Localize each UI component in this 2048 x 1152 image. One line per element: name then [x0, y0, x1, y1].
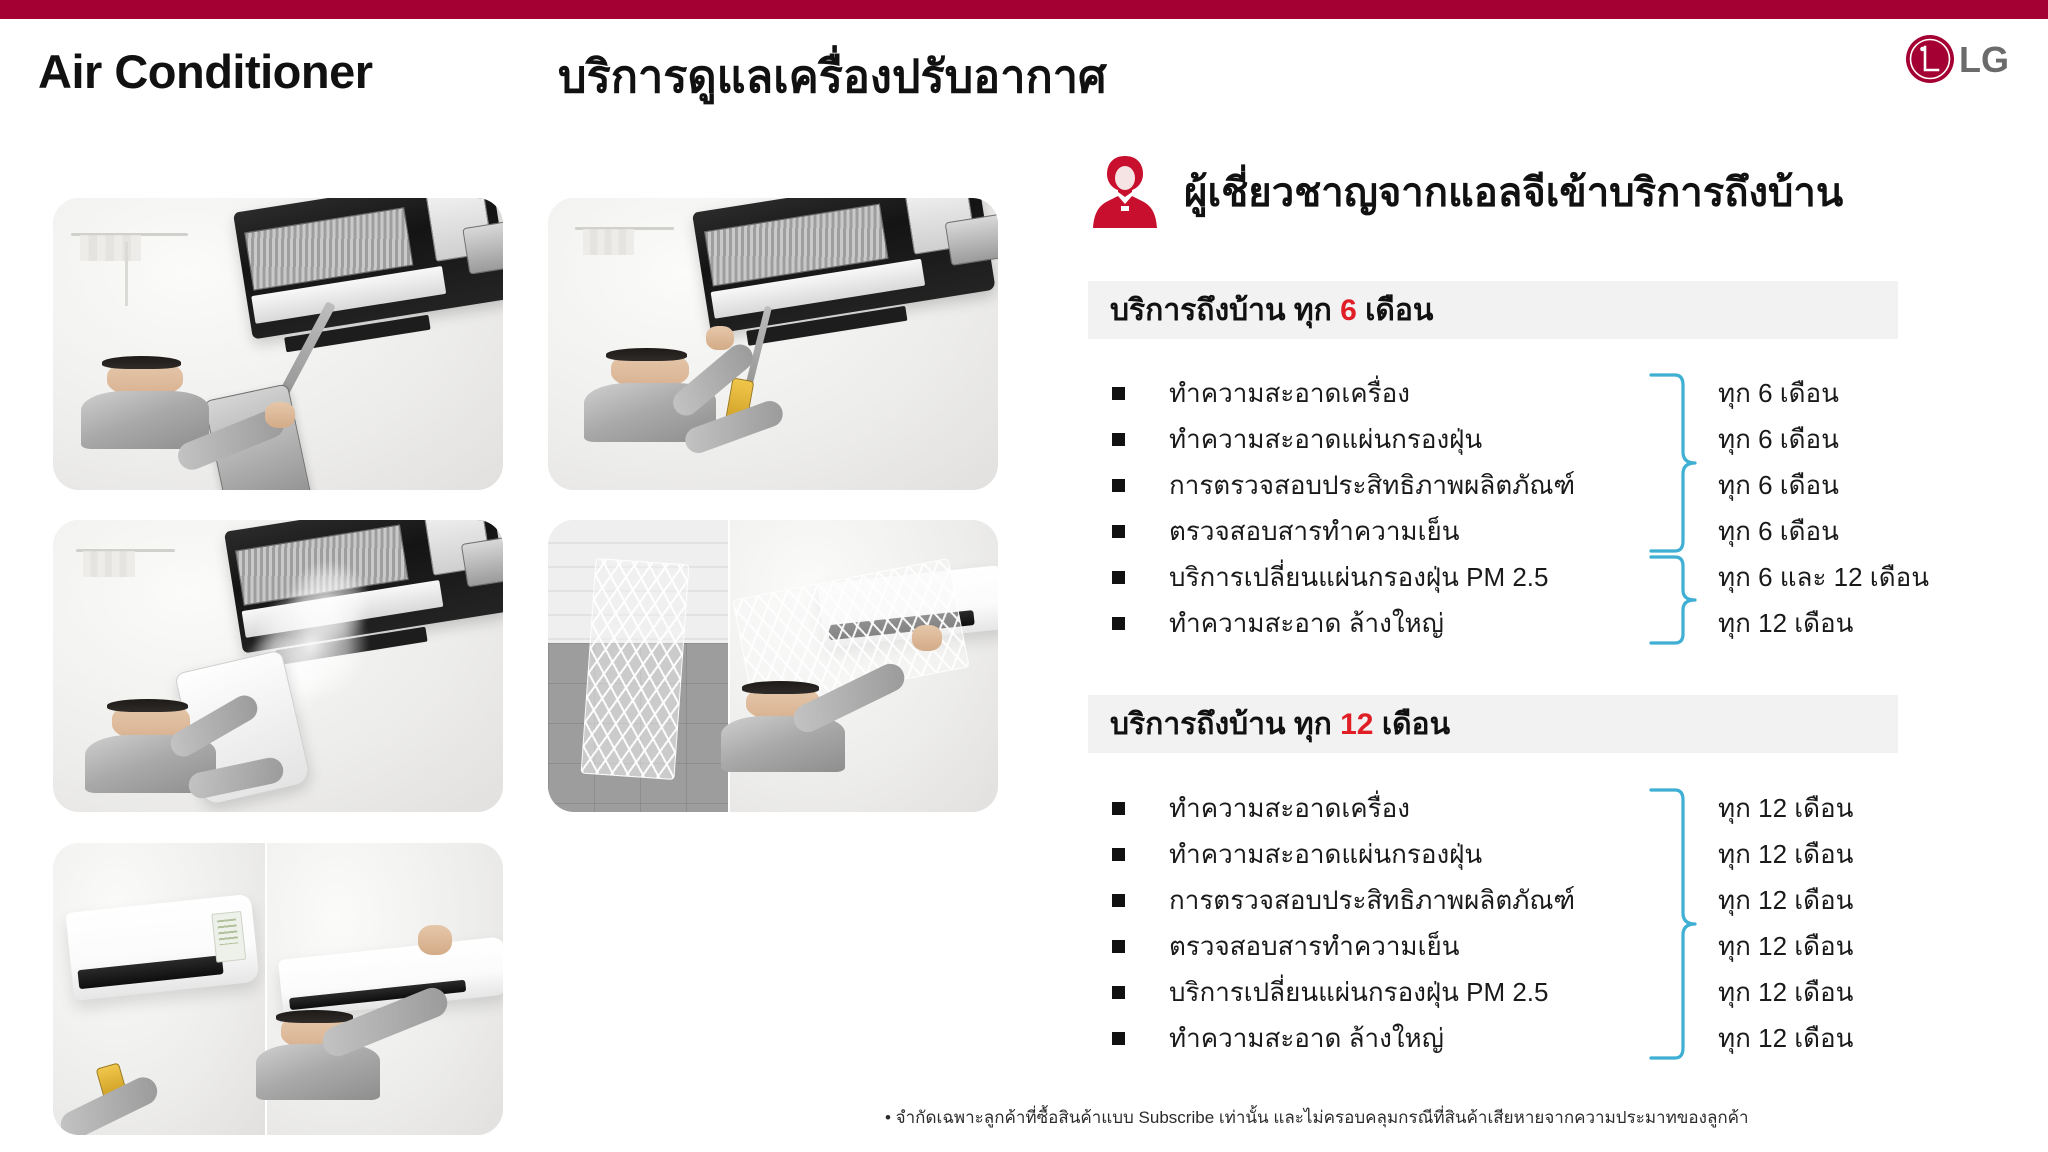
- bullet-icon: [1112, 479, 1125, 492]
- frequency-list-6-month: ทุก 6 เดือน ทุก 6 เดือน ทุก 6 เดือน ทุก …: [1718, 370, 1929, 646]
- list-item: การตรวจสอบประสิทธิภาพผลิตภัณฑ์: [1112, 877, 1575, 923]
- bullet-icon: [1112, 571, 1125, 584]
- bullet-icon: [1112, 802, 1125, 815]
- frequency-value: ทุก 12 เดือน: [1718, 877, 1853, 923]
- list-item: บริการเปลี่ยนแผ่นกรองฝุ่น PM 2.5: [1112, 969, 1575, 1015]
- bullet-icon: [1112, 617, 1125, 630]
- bullet-icon: [1112, 1032, 1125, 1045]
- bullet-icon: [1112, 894, 1125, 907]
- photo-spray-cleaning-coil: [548, 198, 998, 490]
- frequency-value: ทุก 6 เดือน: [1718, 416, 1929, 462]
- list-item: ตรวจสอบสารทำความเย็น: [1112, 508, 1575, 554]
- brace-6-month-group-2: [1645, 554, 1701, 646]
- list-item: ทำความสะอาด ล้างใหญ่: [1112, 600, 1575, 646]
- bullet-icon: [1112, 848, 1125, 861]
- frequency-value: ทุก 12 เดือน: [1718, 969, 1853, 1015]
- list-item: บริการเปลี่ยนแผ่นกรองฝุ่น PM 2.5: [1112, 554, 1575, 600]
- service-list-6-month: ทำความสะอาดเครื่อง ทำความสะอาดแผ่นกรองฝุ…: [1112, 370, 1575, 646]
- bullet-icon: [1112, 433, 1125, 446]
- top-accent-bar: [0, 0, 2048, 19]
- frequency-value: ทุก 6 เดือน: [1718, 462, 1929, 508]
- frequency-list-12-month: ทุก 12 เดือน ทุก 12 เดือน ทุก 12 เดือน ท…: [1718, 785, 1853, 1061]
- frequency-value: ทุก 6 เดือน: [1718, 508, 1929, 554]
- frequency-value: ทุก 6 และ 12 เดือน: [1718, 554, 1929, 600]
- list-item: ทำความสะอาดเครื่อง: [1112, 370, 1575, 416]
- frequency-value: ทุก 12 เดือน: [1718, 831, 1853, 877]
- page-title-thai: บริการดูแลเครื่องปรับอากาศ: [558, 40, 1107, 112]
- photo-steam-cleaning-with-panel: [53, 520, 503, 812]
- service-header: ผู้เชี่ยวชาญจากแอลจีเข้าบริการถึงบ้าน: [1088, 152, 1843, 232]
- bullet-icon: [1112, 986, 1125, 999]
- bullet-icon: [1112, 940, 1125, 953]
- section-band-12-month: บริการถึงบ้าน ทุก 12 เดือน: [1088, 695, 1898, 753]
- section-band-6-month-text: บริการถึงบ้าน ทุก 6 เดือน: [1088, 287, 1433, 334]
- slide-root: Air Conditioner บริการดูแลเครื่องปรับอาก…: [0, 0, 2048, 1152]
- list-item: ทำความสะอาดแผ่นกรองฝุ่น: [1112, 831, 1575, 877]
- section-band-12-month-text: บริการถึงบ้าน ทุก 12 เดือน: [1088, 701, 1450, 748]
- bullet-icon: [1112, 387, 1125, 400]
- list-item: ทำความสะอาดเครื่อง: [1112, 785, 1575, 831]
- photo-filter-removal-split: [548, 520, 998, 812]
- service-list-12-month: ทำความสะอาดเครื่อง ทำความสะอาดแผ่นกรองฝุ…: [1112, 785, 1575, 1061]
- frequency-value: ทุก 12 เดือน: [1718, 600, 1929, 646]
- footnote-text: • จำกัดเฉพาะลูกค้าที่ซื้อสินค้าแบบ Subsc…: [885, 1104, 1749, 1131]
- bullet-icon: [1112, 525, 1125, 538]
- list-item: การตรวจสอบประสิทธิภาพผลิตภัณฑ์: [1112, 462, 1575, 508]
- section-band-6-month: บริการถึงบ้าน ทุก 6 เดือน: [1088, 281, 1898, 339]
- list-item: ทำความสะอาด ล้างใหญ่: [1112, 1015, 1575, 1061]
- frequency-value: ทุก 12 เดือน: [1718, 1015, 1853, 1061]
- page-title-english: Air Conditioner: [38, 44, 373, 99]
- brace-12-month-group-1: [1645, 787, 1701, 1061]
- svg-text:LG: LG: [1959, 39, 2009, 80]
- brace-6-month-group-1: [1645, 372, 1701, 554]
- list-item: ตรวจสอบสารทำความเย็น: [1112, 923, 1575, 969]
- frequency-value: ทุก 12 เดือน: [1718, 785, 1853, 831]
- photo-vacuum-cleaning-open-unit: [53, 198, 503, 490]
- list-item: ทำความสะอาดแผ่นกรองฝุ่น: [1112, 416, 1575, 462]
- service-header-text: ผู้เชี่ยวชาญจากแอลจีเข้าบริการถึงบ้าน: [1184, 160, 1843, 224]
- technician-icon: [1088, 152, 1162, 232]
- photo-final-inspection-split: [53, 843, 503, 1135]
- frequency-value: ทุก 12 เดือน: [1718, 923, 1853, 969]
- lg-logo: LG: [1905, 33, 2023, 85]
- frequency-value: ทุก 6 เดือน: [1718, 370, 1929, 416]
